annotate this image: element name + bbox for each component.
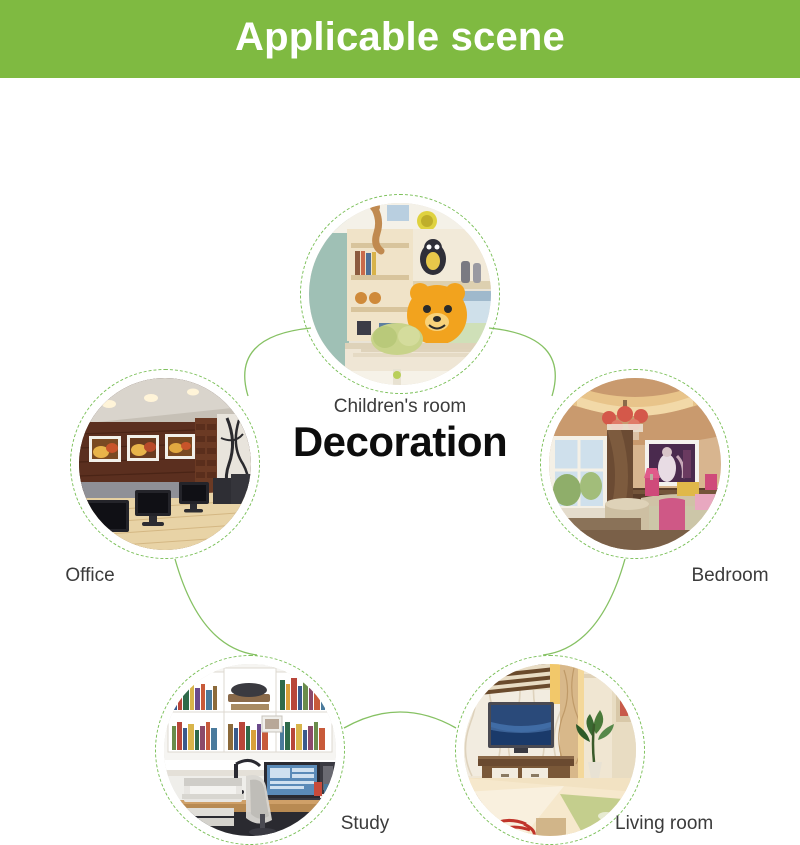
children-room-photo bbox=[309, 203, 491, 385]
header-banner: Applicable scene bbox=[0, 0, 800, 78]
scene-node-children[interactable]: Children's room bbox=[300, 194, 500, 394]
center-label: Decoration bbox=[0, 418, 800, 466]
scene-label-children: Children's room bbox=[300, 396, 500, 418]
living-room-photo bbox=[464, 664, 636, 836]
scene-label-bedroom: Bedroom bbox=[660, 565, 800, 587]
scene-label-office: Office bbox=[40, 565, 140, 587]
scene-node-study[interactable]: Study bbox=[155, 655, 345, 845]
applicable-scene-diagram: Children's room bbox=[0, 78, 800, 800]
page-title: Applicable scene bbox=[235, 17, 565, 61]
study-photo bbox=[164, 664, 336, 836]
scene-label-study: Study bbox=[315, 813, 415, 835]
scene-label-living: Living room bbox=[615, 813, 765, 835]
scene-node-living[interactable]: Living room bbox=[455, 655, 645, 845]
